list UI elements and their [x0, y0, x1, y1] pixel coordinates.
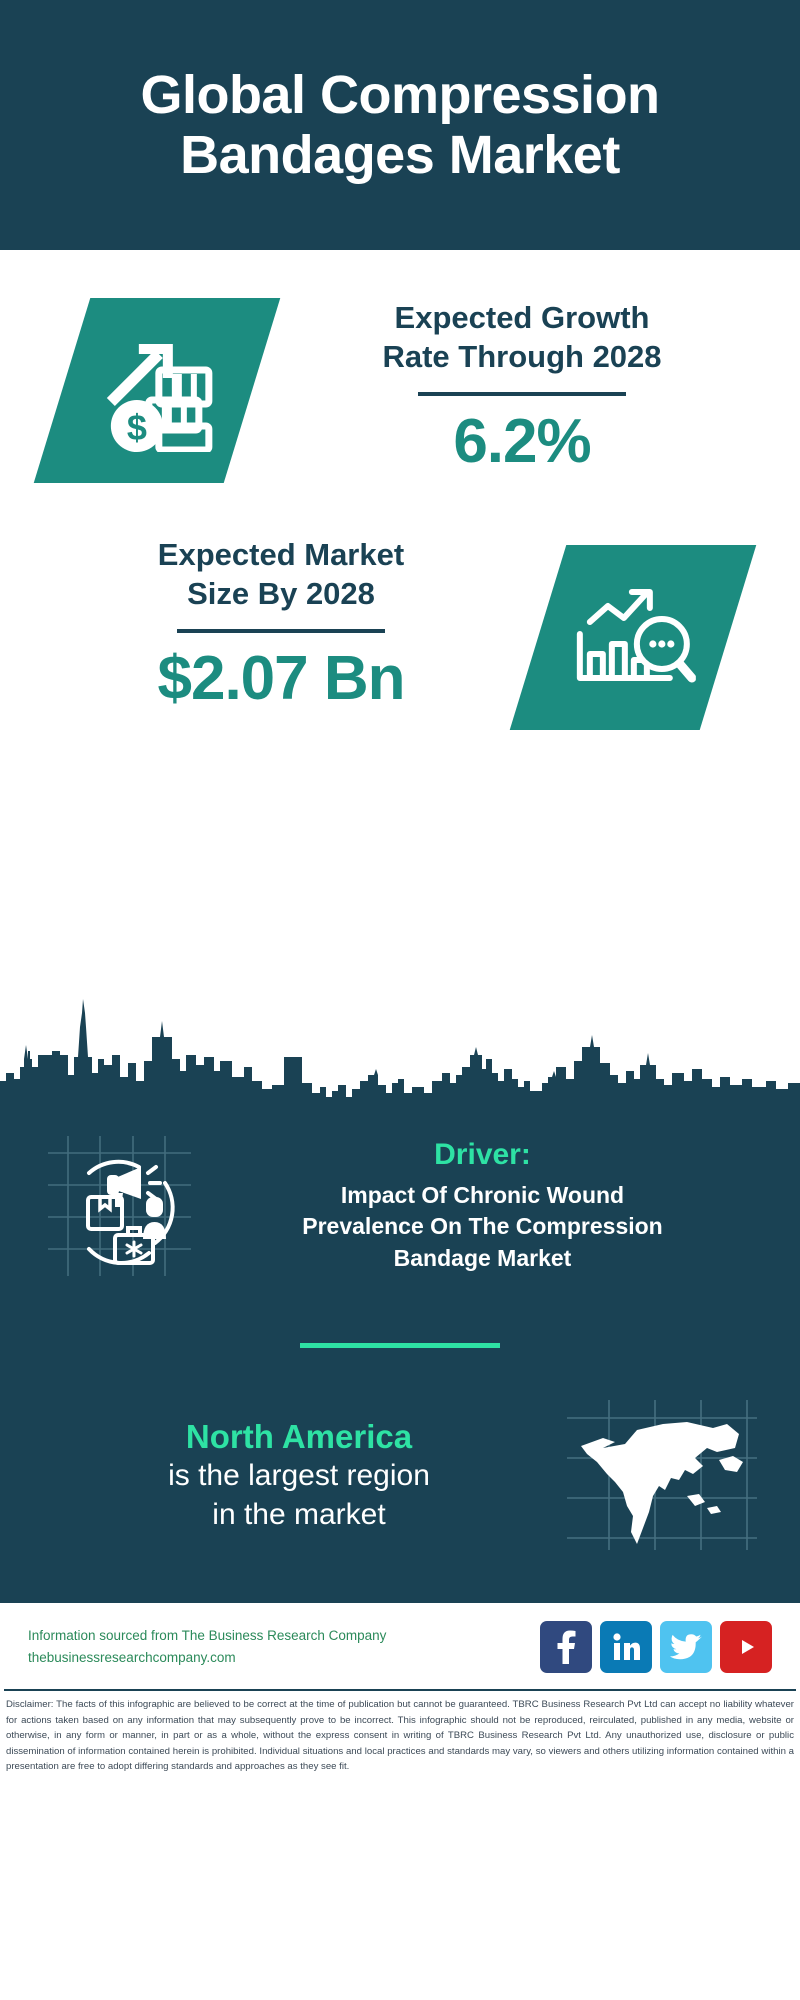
market-label: Expected Market Size By 2028	[34, 535, 528, 613]
svg-text:$: $	[127, 407, 147, 448]
youtube-icon[interactable]	[720, 1621, 772, 1673]
region-block: North America is the largest region in t…	[0, 1400, 800, 1590]
market-text-block: Expected Market Size By 2028 $2.07 Bn	[0, 535, 528, 714]
region-name: North America	[46, 1416, 552, 1457]
social-links	[540, 1621, 772, 1673]
stats-section: $ Expected Growth Rate Through 2028 6.2%…	[0, 250, 800, 995]
growth-text-block: Expected Growth Rate Through 2028 6.2%	[252, 298, 800, 477]
growth-divider	[418, 392, 626, 396]
twitter-icon[interactable]	[660, 1621, 712, 1673]
driver-body-line1: Impact Of Chronic Wound	[341, 1182, 624, 1208]
market-icon-tile	[510, 545, 757, 730]
driver-icon-wrap	[30, 1131, 205, 1281]
footer: Information sourced from The Business Re…	[0, 1603, 800, 1683]
growth-icon-tile: $	[34, 298, 281, 483]
city-skyline-silhouette	[0, 993, 800, 1113]
linkedin-icon[interactable]	[600, 1621, 652, 1673]
page-title: Global Compression Bandages Market	[70, 65, 730, 186]
driver-body-line3: Bandage Market	[394, 1245, 572, 1271]
market-label-line2: Size By 2028	[187, 576, 375, 611]
facebook-icon[interactable]	[540, 1621, 592, 1673]
chart-magnifier-icon	[570, 582, 696, 694]
footer-source: Information sourced from The Business Re…	[28, 1625, 540, 1670]
growth-rate-block: $ Expected Growth Rate Through 2028 6.2%	[0, 250, 800, 483]
market-label-line1: Expected Market	[158, 537, 404, 572]
market-value: $2.07 Bn	[34, 643, 528, 714]
driver-text-block: Driver: Impact Of Chronic Wound Prevalen…	[205, 1138, 770, 1273]
market-divider	[177, 629, 385, 633]
footer-website-link[interactable]: thebusinessresearchcompany.com	[28, 1647, 540, 1669]
driver-body-line2: Prevalence On The Compression	[302, 1213, 662, 1239]
market-size-block: Expected Market Size By 2028 $2.07 Bn	[0, 483, 800, 730]
north-america-map-icon	[567, 1400, 757, 1550]
region-sub-line1: is the largest region	[168, 1459, 430, 1492]
region-text-block: North America is the largest region in t…	[28, 1416, 552, 1534]
header-banner: Global Compression Bandages Market	[0, 0, 800, 250]
driver-heading: Driver:	[205, 1138, 760, 1172]
driver-block: Driver: Impact Of Chronic Wound Prevalen…	[0, 1113, 800, 1281]
section-divider	[300, 1343, 500, 1348]
driver-body: Impact Of Chronic Wound Prevalence On Th…	[205, 1180, 760, 1273]
growth-label-line1: Expected Growth	[395, 300, 650, 335]
region-sub-line2: in the market	[212, 1498, 385, 1531]
growth-label: Expected Growth Rate Through 2028	[266, 298, 778, 376]
insights-section: Driver: Impact Of Chronic Wound Prevalen…	[0, 1113, 800, 1600]
footer-source-line1: Information sourced from The Business Re…	[28, 1625, 540, 1647]
growth-money-icon: $	[93, 330, 221, 452]
growth-label-line2: Rate Through 2028	[382, 339, 661, 374]
region-subtitle: is the largest region in the market	[46, 1457, 552, 1534]
supply-chain-megaphone-icon	[43, 1131, 193, 1281]
growth-value: 6.2%	[266, 406, 778, 477]
region-map-wrap	[552, 1400, 772, 1550]
disclaimer-text: Disclaimer: The facts of this infographi…	[0, 1691, 800, 1775]
